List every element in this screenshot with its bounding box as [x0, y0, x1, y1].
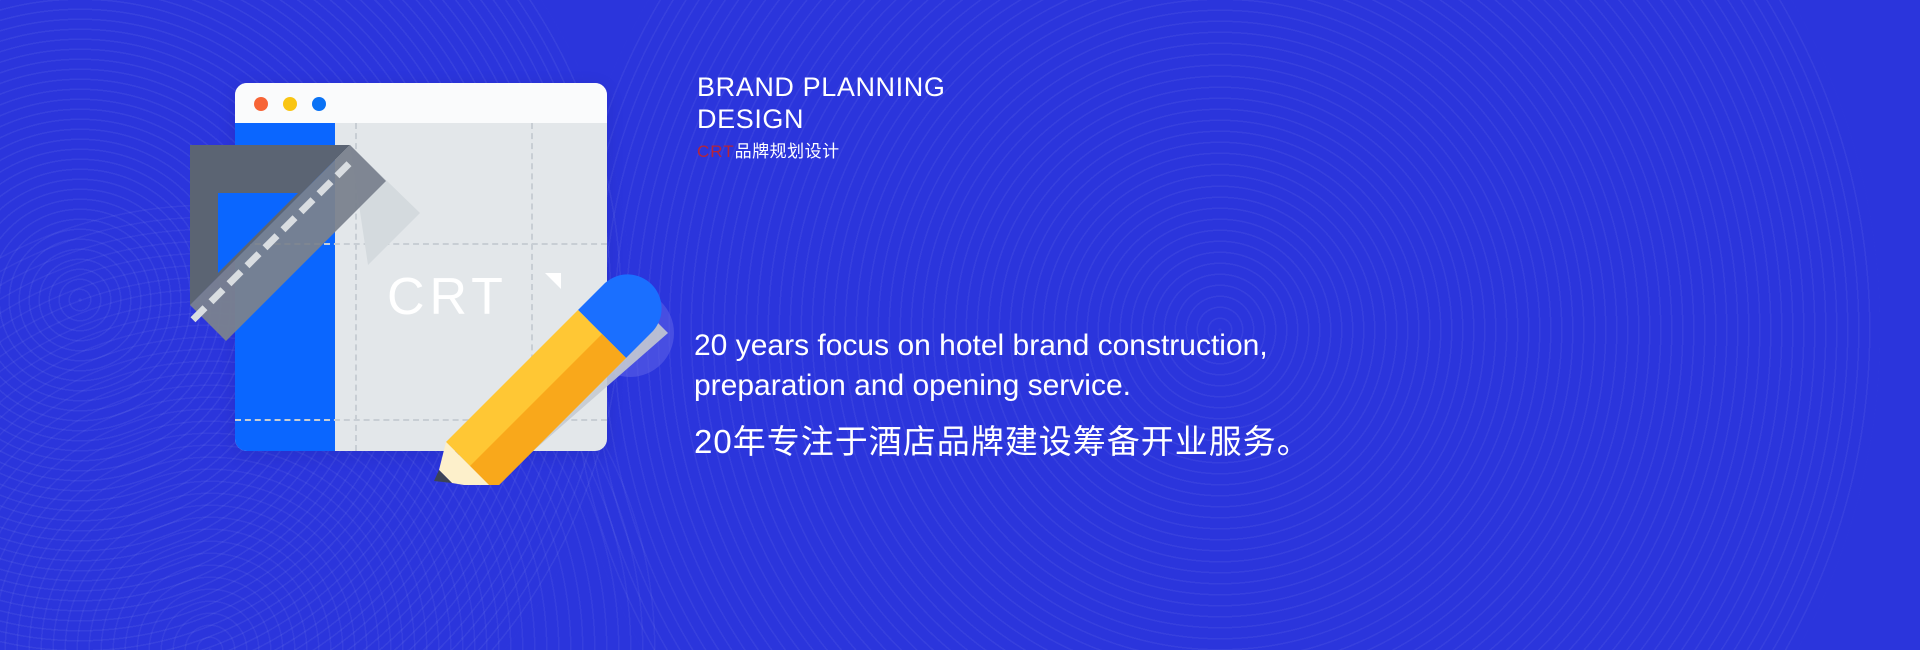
window-maximize-dot-icon[interactable]	[312, 97, 326, 111]
pencil-icon	[430, 225, 690, 485]
tagline-english-line-2: preparation and opening service.	[694, 369, 1131, 402]
window-minimize-dot-icon[interactable]	[283, 97, 297, 111]
subtitle-chinese: 品牌规划设计	[735, 142, 840, 161]
headline-line-2: DESIGN	[697, 104, 804, 134]
headline-title: BRAND PLANNING DESIGN	[697, 72, 1257, 136]
browser-titlebar	[235, 83, 607, 123]
tagline-chinese: 20年专注于酒店品牌建设筹备开业服务。	[694, 421, 1414, 464]
brand-design-illustration: CRT	[190, 60, 690, 480]
tagline-block: 20 years focus on hotel brand constructi…	[694, 326, 1414, 464]
triangle-ruler-icon	[190, 145, 420, 380]
subtitle-brand: CRT	[697, 142, 735, 161]
tagline-english-line-1: 20 years focus on hotel brand constructi…	[694, 329, 1268, 362]
window-close-dot-icon[interactable]	[254, 97, 268, 111]
headline-line-1: BRAND PLANNING	[697, 72, 945, 102]
headline-subtitle: CRT品牌规划设计	[697, 142, 1257, 162]
headline-block: BRAND PLANNING DESIGN CRT品牌规划设计	[697, 72, 1257, 162]
promo-banner: CRT	[0, 0, 1920, 650]
tagline-english: 20 years focus on hotel brand constructi…	[694, 326, 1414, 405]
